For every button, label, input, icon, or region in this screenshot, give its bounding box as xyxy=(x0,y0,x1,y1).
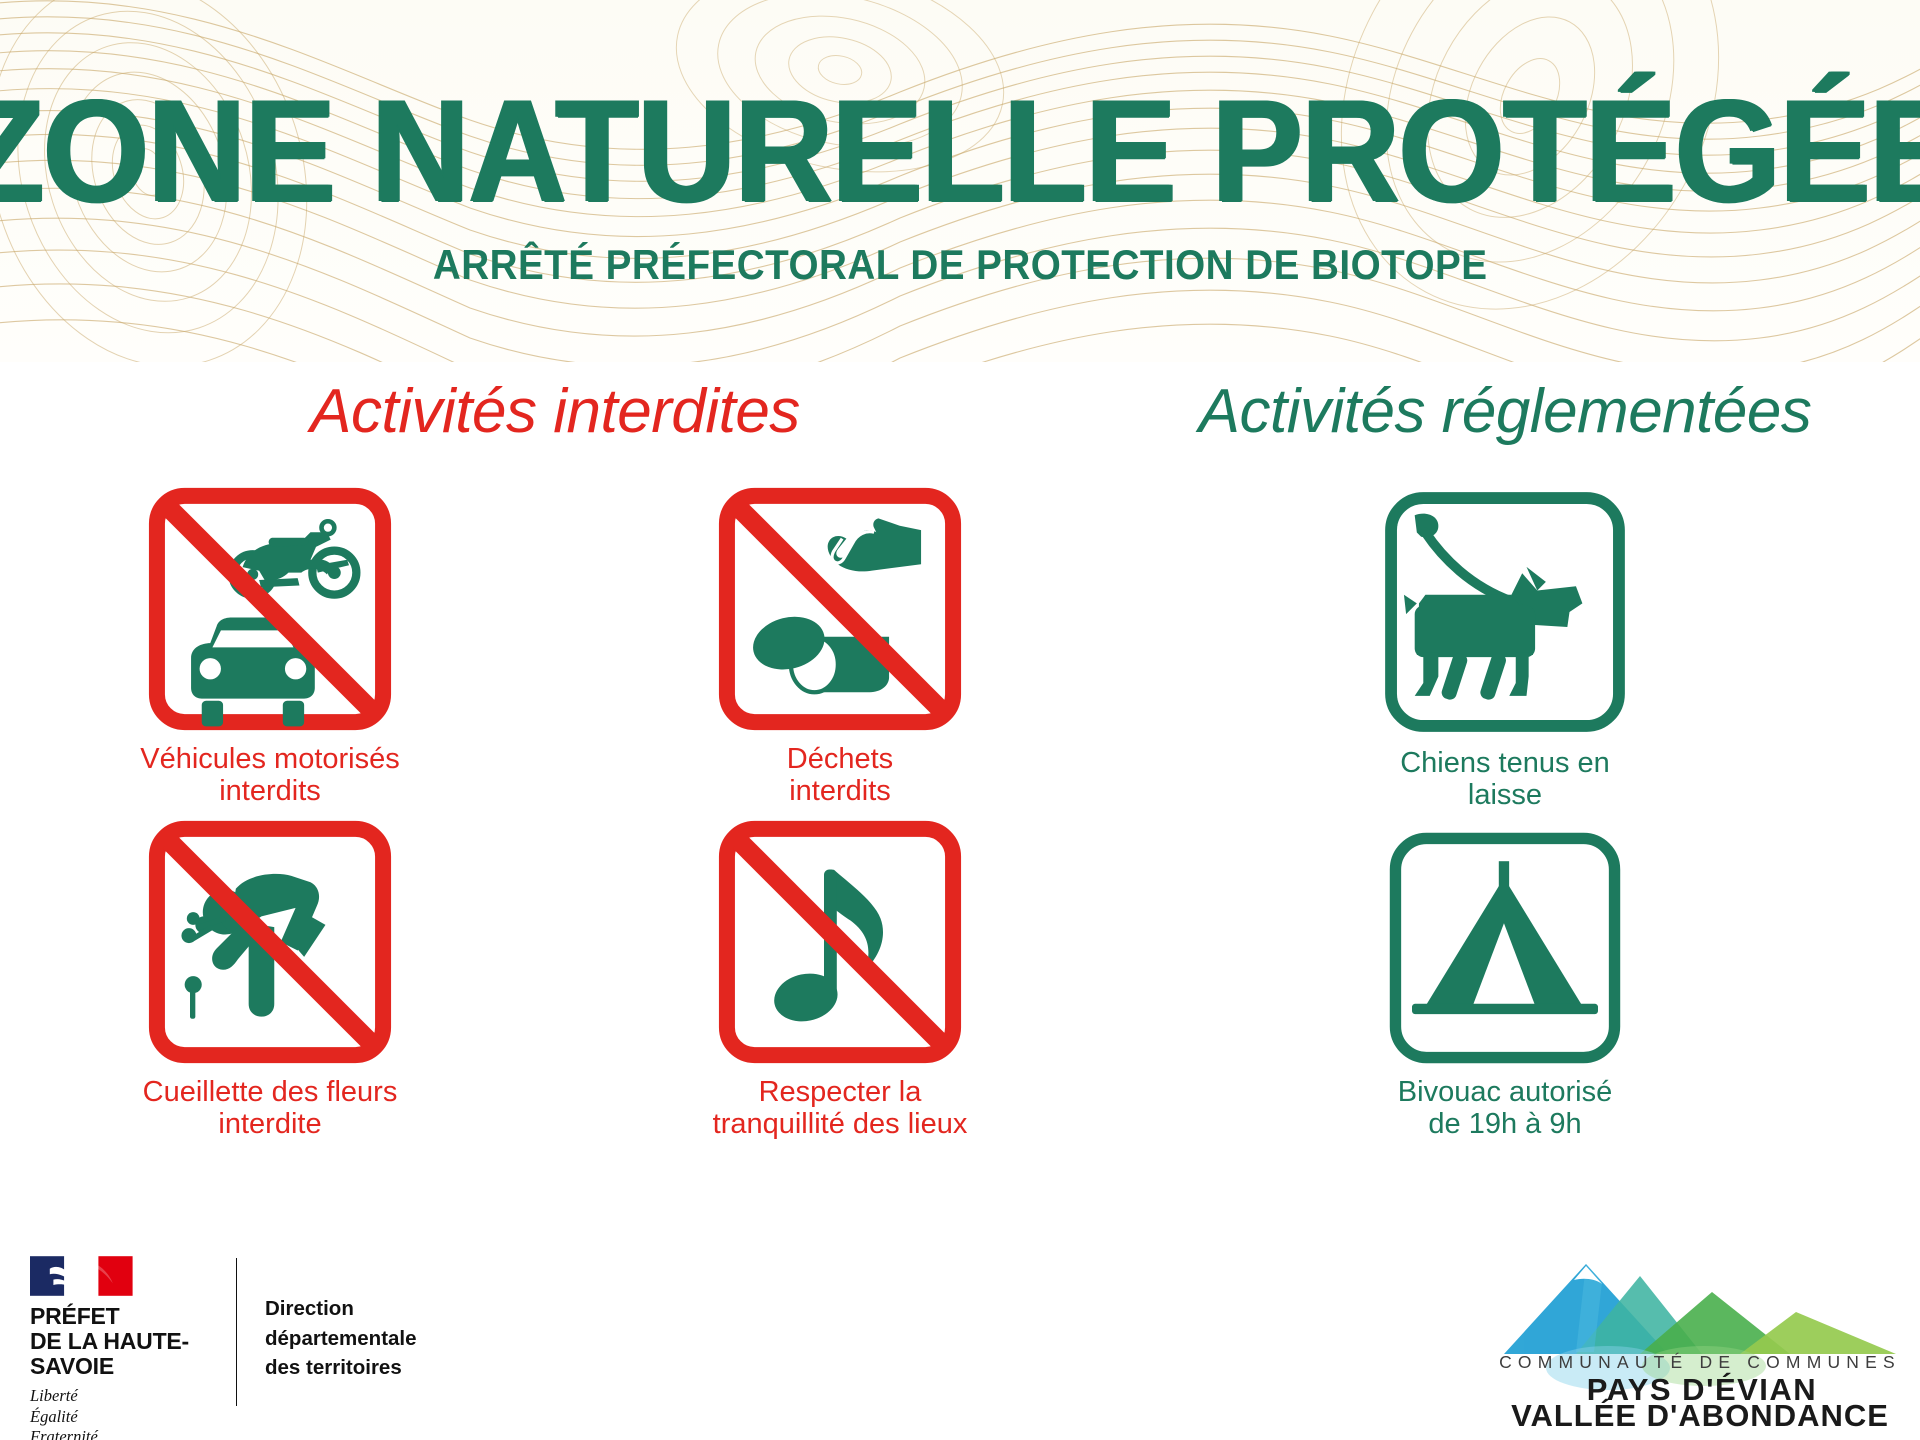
forbidden-activities-column: Activités interdites xyxy=(40,362,1070,1141)
footer: PRÉFET DE LA HAUTE- SAVOIE Liberté Égali… xyxy=(0,1240,1920,1440)
header-band: ZONE NATURELLE PROTÉGÉE ARRÊTÉ PRÉFECTOR… xyxy=(0,0,1920,362)
cc-line1: COMMUNAUTÉ DE COMMUNES xyxy=(1499,1352,1901,1372)
forbidden-column-heading: Activités interdites xyxy=(40,376,1070,447)
regulated-items-grid: Chiens tenus en laisse xyxy=(1090,481,1920,1141)
prefecture-name: PRÉFET DE LA HAUTE- SAVOIE xyxy=(30,1304,210,1378)
list-item-label: Cueillette des fleurs interdite xyxy=(143,1076,398,1141)
list-item: Bivouac autorisé de 19h à 9h xyxy=(1295,824,1715,1141)
svg-text:VALLÉE D'ABONDANCE: VALLÉE D'ABONDANCE xyxy=(1511,1398,1889,1430)
tent-bivouac-icon xyxy=(1376,824,1634,1072)
community-of-communes-logo: COMMUNAUTÉ DE COMMUNES PAYS D'ÉVIAN VALL… xyxy=(1490,1250,1910,1430)
forbidden-items-grid: Véhicules motorisés interdits xyxy=(40,481,1070,1141)
mountain-peaks-icon: COMMUNAUTÉ DE COMMUNES PAYS D'ÉVIAN VALL… xyxy=(1490,1250,1910,1430)
noise-prohibited-icon xyxy=(704,814,976,1070)
flower-picking-prohibited-icon xyxy=(134,814,406,1070)
list-item-label: Véhicules motorisés interdits xyxy=(140,743,400,808)
list-item-label: Chiens tenus en laisse xyxy=(1400,747,1610,812)
republic-motto: Liberté Égalité Fraternité xyxy=(30,1386,210,1440)
regulated-column-heading: Activités réglementées xyxy=(1090,376,1920,447)
list-item-label: Bivouac autorisé de 19h à 9h xyxy=(1398,1076,1612,1141)
dog-on-leash-icon xyxy=(1376,481,1634,743)
motor-vehicles-prohibited-icon xyxy=(134,481,406,737)
poster-root: ZONE NATURELLE PROTÉGÉE ARRÊTÉ PRÉFECTOR… xyxy=(0,0,1920,1440)
list-item: Véhicules motorisés interdits xyxy=(65,481,475,808)
list-item-label: Déchets interdits xyxy=(787,743,893,808)
page-subtitle: ARRÊTÉ PRÉFECTORAL DE PROTECTION DE BIOT… xyxy=(433,241,1488,289)
list-item: Déchets interdits xyxy=(635,481,1045,808)
content-area: Activités interdites xyxy=(0,362,1920,1222)
logo-divider xyxy=(236,1258,237,1406)
service-name: Direction départementale des territoires xyxy=(265,1294,417,1383)
marianne-french-republic-icon xyxy=(30,1254,138,1298)
prefecture-block: PRÉFET DE LA HAUTE- SAVOIE Liberté Égali… xyxy=(30,1254,210,1440)
page-title: ZONE NATURELLE PROTÉGÉE xyxy=(0,79,1920,222)
government-logo: PRÉFET DE LA HAUTE- SAVOIE Liberté Égali… xyxy=(30,1254,417,1440)
regulated-activities-column: Activités réglementées xyxy=(1090,362,1920,1141)
list-item: Cueillette des fleurs interdite xyxy=(65,814,475,1141)
litter-prohibited-icon xyxy=(704,481,976,737)
list-item: Respecter la tranquillité des lieux xyxy=(635,814,1045,1141)
list-item-label: Respecter la tranquillité des lieux xyxy=(713,1076,968,1141)
list-item: Chiens tenus en laisse xyxy=(1295,481,1715,812)
